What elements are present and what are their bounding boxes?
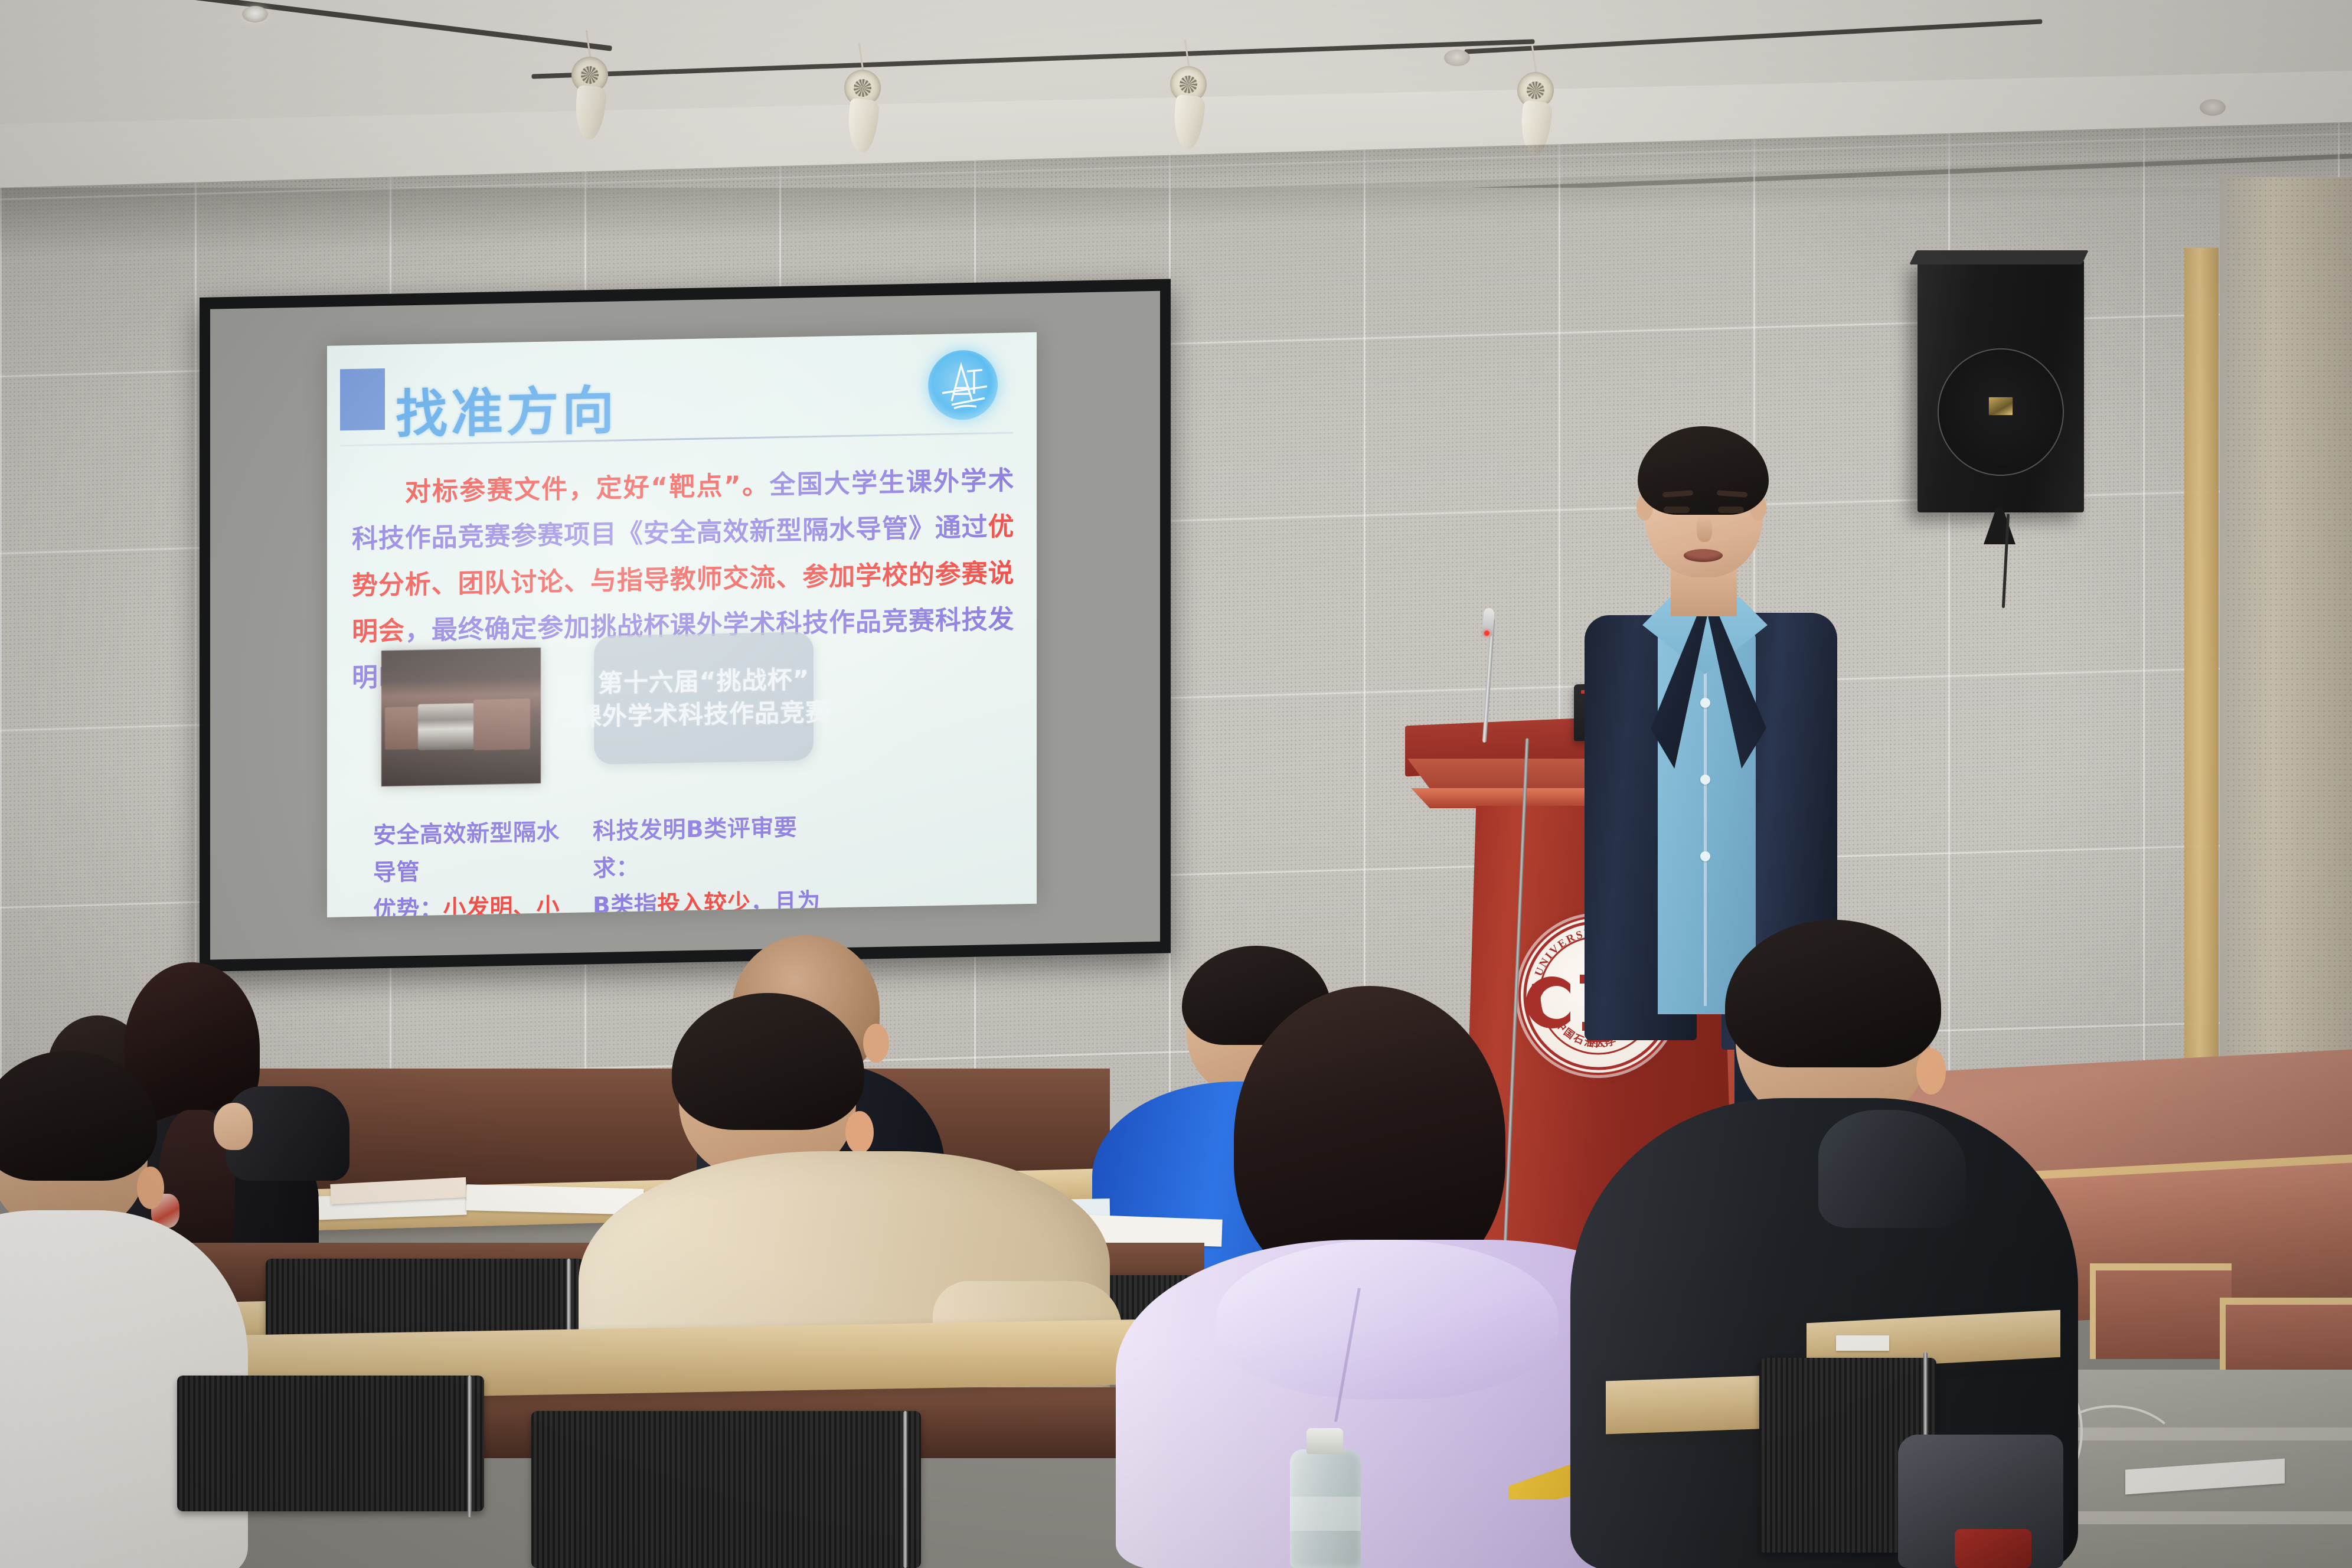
wall-pillar	[2184, 248, 2219, 1169]
duct-photo	[381, 648, 541, 786]
body-seg-3: 《安全高效新型隔水导管》通过	[617, 512, 988, 550]
shirt-button	[1700, 698, 1710, 708]
bottle-label	[1290, 1497, 1361, 1531]
chair-rail	[903, 1411, 907, 1568]
audience-hair	[0, 1051, 157, 1181]
shirt-button	[1700, 851, 1710, 861]
hvac-nozzle-icon	[571, 57, 608, 136]
chair	[177, 1376, 484, 1511]
audience-ear	[845, 1111, 874, 1154]
title-accent-block	[340, 368, 385, 430]
slide-title: 找准方向	[396, 368, 618, 447]
caption-left-label: 优势：	[373, 896, 443, 917]
bag-detail	[1955, 1529, 2031, 1568]
derrick-circle-logo-icon	[928, 349, 998, 420]
chair-rail	[468, 1376, 472, 1517]
presenter-nose	[1697, 516, 1712, 542]
hood	[1216, 1240, 1559, 1399]
wall-loudspeaker	[1917, 260, 2084, 512]
competition-callout-box: 第十六届“挑战杯” 课外学术科技作品竞赛	[594, 632, 814, 765]
chair	[531, 1411, 921, 1568]
audience-hair	[1725, 920, 1941, 1067]
lecture-hall-photo: 找准方向	[0, 0, 2352, 1568]
caption-left-line1: 优势：小发明、小创新	[373, 888, 574, 917]
speaker-badge	[1988, 397, 2013, 416]
presenter-eye	[1718, 507, 1744, 513]
callout-line-1: 第十六届“挑战杯”	[598, 663, 809, 700]
caption-left-heading: 安全高效新型隔水导管	[373, 814, 574, 892]
backpack-on-floor	[1898, 1435, 2063, 1568]
presenter-hair	[1638, 426, 1769, 515]
speaker-top	[1909, 250, 2089, 264]
downlight-icon	[2200, 99, 2226, 116]
microphone-led-indicator	[1484, 631, 1489, 636]
downlight-icon	[242, 6, 268, 22]
bottle-cap	[1306, 1428, 1343, 1454]
hvac-nozzle-icon	[1517, 72, 1554, 152]
audience-hair	[672, 993, 864, 1130]
cr-em: 投入较少	[657, 890, 750, 917]
projection-screen: 找准方向	[200, 279, 1171, 972]
water-bottle	[1290, 1449, 1361, 1568]
presentation-slide: 找准方向	[327, 332, 1037, 917]
hvac-nozzle-icon	[844, 70, 881, 149]
body-seg-1: 对标参赛文件，定好“靶点”。	[404, 470, 769, 507]
audience-ear	[137, 1167, 164, 1209]
caption-right: 科技发明B类评审要求： B类指投入较少，且为生产技术或社会生活带来便利的小发明、…	[593, 809, 829, 917]
shirt-button	[1700, 775, 1710, 785]
stage-step	[2220, 1298, 2352, 1381]
downlight-icon	[1444, 50, 1470, 66]
caption-right-body: B类指投入较少，且为生产技术或社会生活带来便利的小发明、小制作等；	[593, 883, 829, 917]
jacket-collar	[1818, 1110, 1966, 1228]
callout-line-2: 课外学术科技作品竞赛	[577, 695, 831, 734]
presenter-eye	[1664, 507, 1690, 513]
audience-ear	[1916, 1048, 1946, 1095]
presenter-mouth	[1684, 549, 1723, 562]
desk-label-tag	[1836, 1335, 1889, 1351]
cr-pre: B类指	[593, 891, 657, 917]
caption-left: 安全高效新型隔水导管 优势：小发明、小创新 创新点源于生活	[373, 814, 574, 917]
screen-surface: 找准方向	[210, 291, 1160, 960]
caption-right-heading: 科技发明B类评审要求：	[593, 809, 829, 888]
hvac-nozzle-icon	[1170, 66, 1207, 146]
